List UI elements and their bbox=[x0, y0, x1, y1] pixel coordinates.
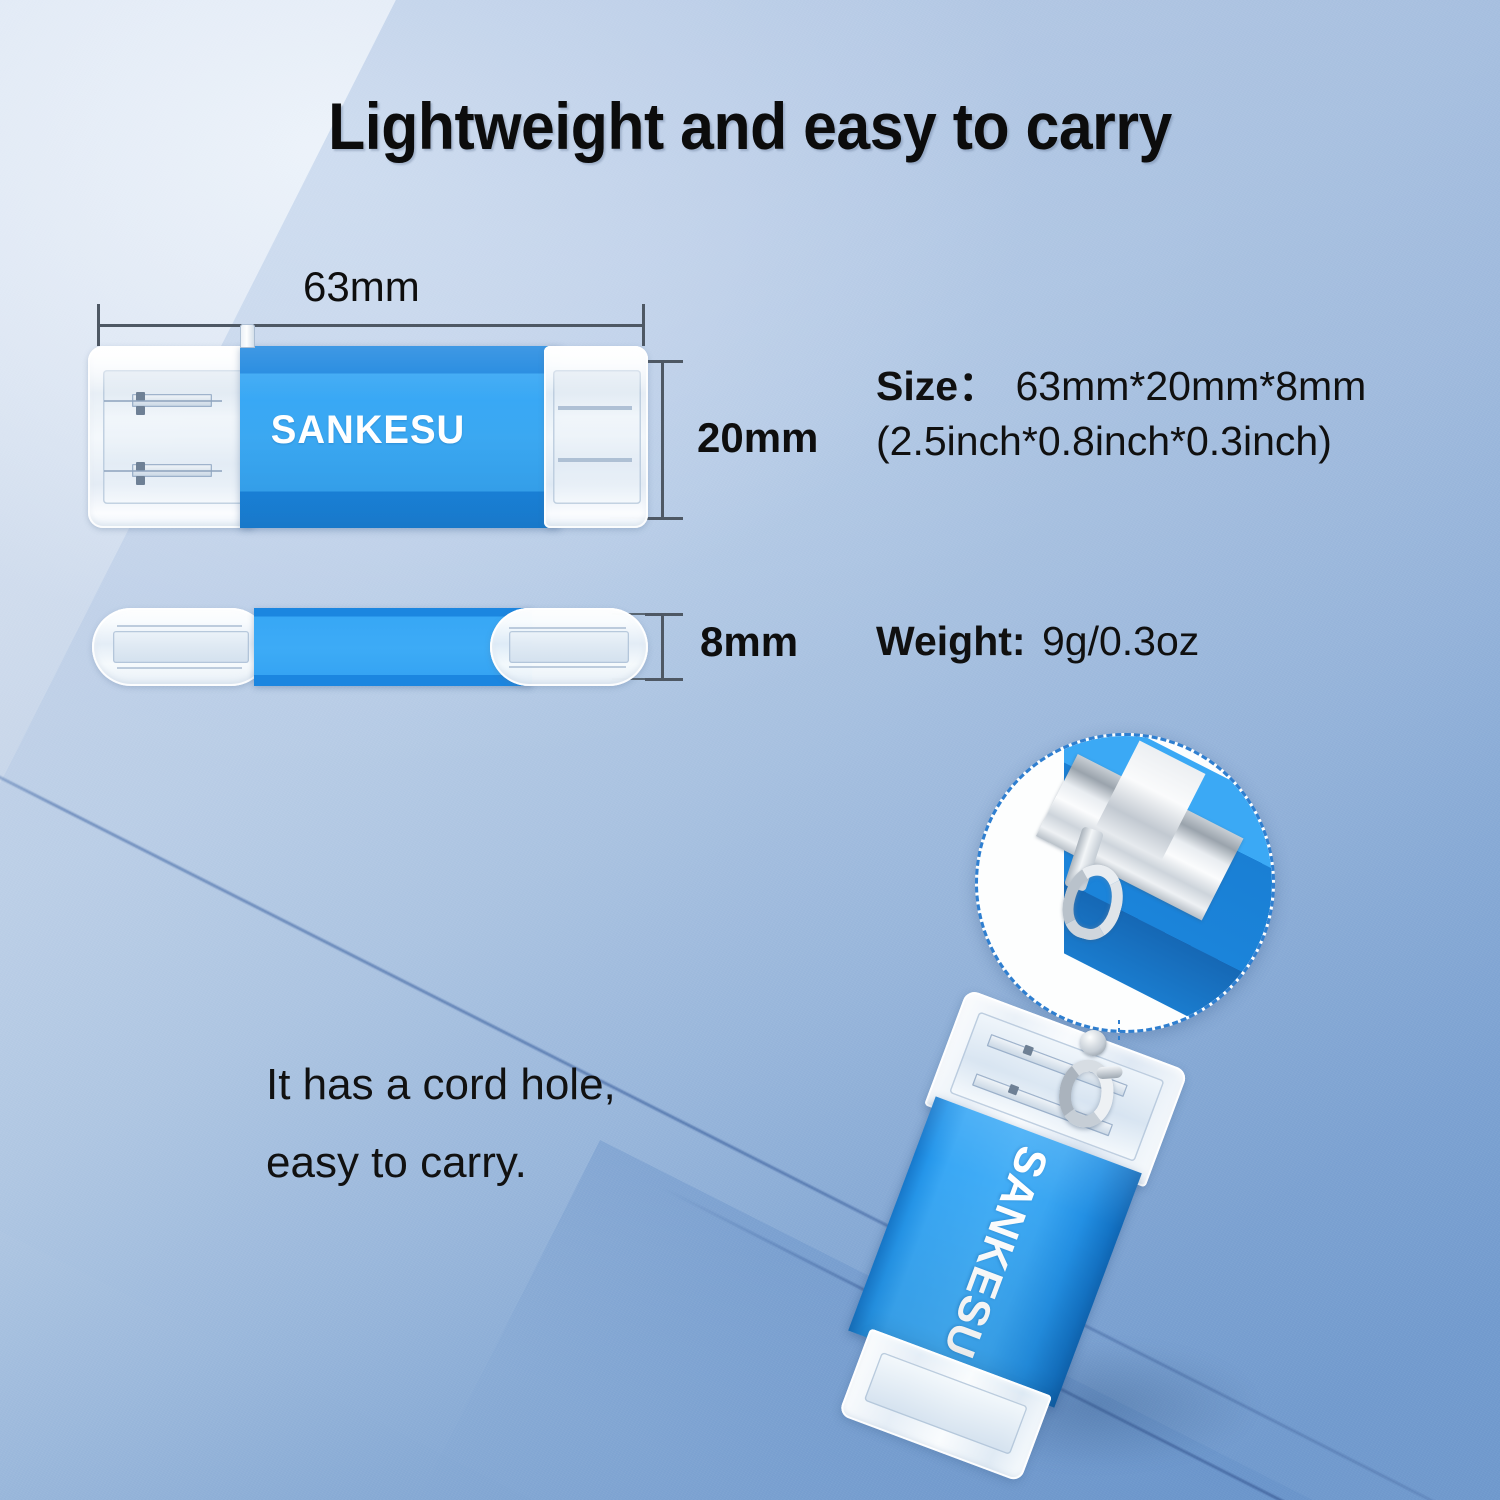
usb-a-cap-side bbox=[92, 608, 270, 686]
magnifier-clip bbox=[978, 736, 1272, 1030]
dimension-tick-length-right bbox=[642, 304, 645, 346]
clasp-head bbox=[1079, 1028, 1108, 1057]
cord-hole-note: It has a cord hole, easy to carry. bbox=[266, 1046, 616, 1202]
usb-drive-top-view: SANKESU bbox=[88, 346, 648, 528]
spec-size-line: Size： 63mm*20mm*8mm bbox=[876, 352, 1366, 412]
usb-c-slot-side bbox=[509, 631, 629, 662]
dimension-label-height: 20mm bbox=[697, 414, 818, 462]
spec-size-inches: (2.5inch*0.8inch*0.3inch) bbox=[876, 418, 1332, 465]
usb-a-glare bbox=[88, 346, 256, 393]
usb-c-trace-1 bbox=[558, 406, 632, 410]
spec-weight-line: Weight: 9g/0.3oz bbox=[876, 618, 1199, 665]
magnifier-circle-icon bbox=[975, 733, 1275, 1033]
usb-a-pin-4 bbox=[136, 476, 145, 485]
spec-weight-label: Weight: bbox=[876, 618, 1026, 664]
cord-hole-nub bbox=[240, 324, 255, 348]
usb-c-connector-icon bbox=[544, 346, 648, 528]
usb-drive-side-view bbox=[92, 608, 648, 686]
usb-c-cap-side bbox=[490, 608, 648, 686]
infographic-canvas: Lightweight and easy to carry 63mm 20mm … bbox=[0, 0, 1500, 1500]
usb-a-trace-1 bbox=[104, 400, 222, 402]
lobster-clasp-icon bbox=[1048, 1025, 1134, 1138]
dimension-label-length: 63mm bbox=[303, 263, 420, 311]
usb-a-trace-2 bbox=[104, 470, 222, 472]
dimension-tick-thickness-bottom bbox=[645, 678, 683, 681]
dimension-tick-height-top bbox=[645, 360, 683, 363]
usb-c-side-hairline-2 bbox=[509, 666, 626, 668]
dimension-label-thickness: 8mm bbox=[700, 618, 798, 666]
spec-size-value: 63mm*20mm*8mm bbox=[1015, 363, 1366, 409]
usb-a-side-hairline-1 bbox=[117, 625, 242, 627]
dimension-tick-thickness-top bbox=[645, 613, 683, 616]
dimension-line-length bbox=[97, 324, 645, 327]
dimension-line-thickness bbox=[661, 613, 664, 681]
usb-c-glare bbox=[544, 346, 648, 393]
cord-hole-note-line1: It has a cord hole, bbox=[266, 1046, 616, 1124]
clasp-latch bbox=[1096, 1066, 1123, 1080]
brand-wordmark-angled: SANKESU bbox=[933, 1139, 1058, 1365]
dimension-line-height bbox=[661, 360, 664, 520]
usb-a-side-hairline-2 bbox=[117, 667, 242, 669]
background-texture bbox=[0, 0, 1500, 1500]
dimension-tick-height-bottom bbox=[645, 517, 683, 520]
cord-hole-note-line2: easy to carry. bbox=[266, 1124, 616, 1202]
page-title: Lightweight and easy to carry bbox=[60, 88, 1440, 164]
usb-c-side-hairline-1 bbox=[509, 627, 626, 629]
usb-c-trace-2 bbox=[558, 458, 632, 462]
dimension-tick-length-left bbox=[97, 304, 100, 346]
spec-size-label: Size： bbox=[876, 363, 999, 409]
spec-weight-value: 9g/0.3oz bbox=[1042, 618, 1199, 664]
usb-a-slot-side bbox=[113, 631, 248, 662]
